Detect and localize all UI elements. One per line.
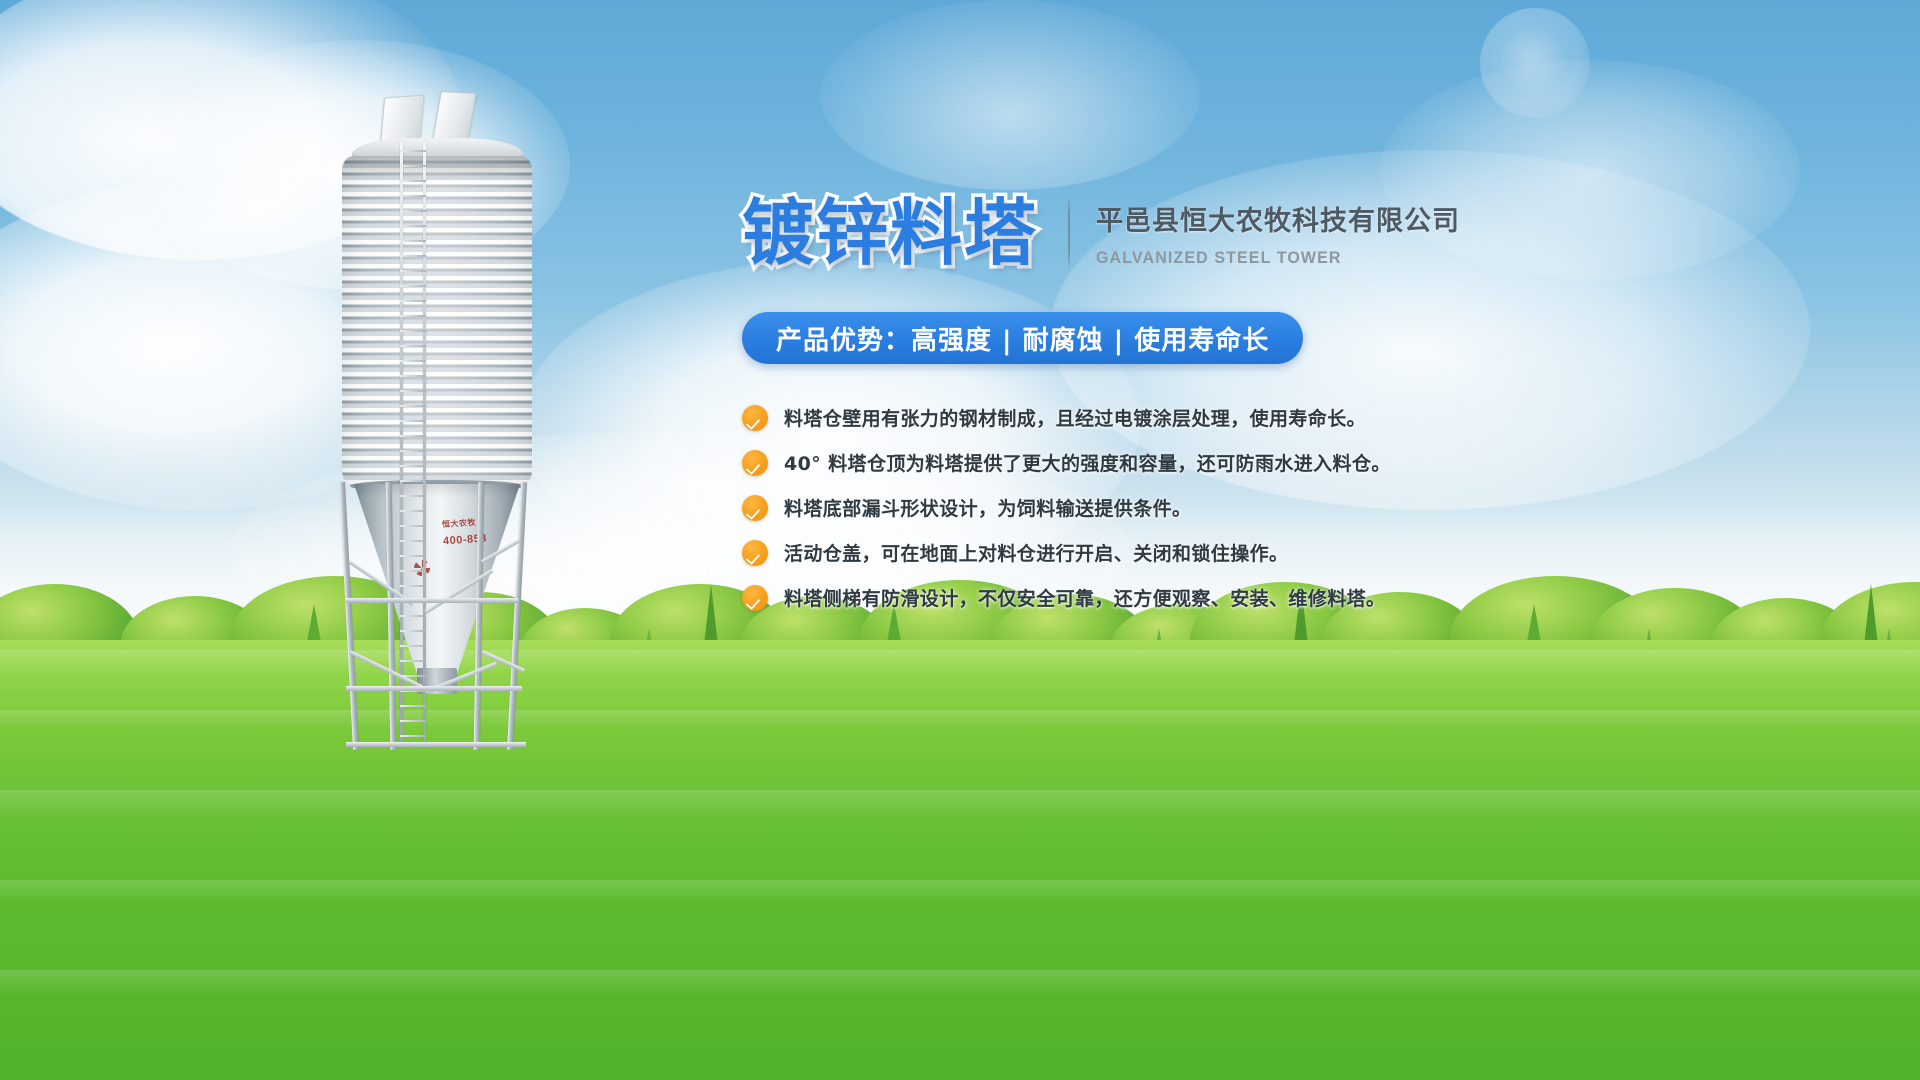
ladder-rung — [400, 720, 426, 722]
feature-list-item-label: 40° 料塔仓顶为料塔提供了更大的强度和容量，还可防雨水进入料仓。 — [784, 449, 1391, 476]
cloud — [820, 0, 1200, 190]
ladder-rung — [400, 705, 426, 707]
ladder-rung — [400, 555, 426, 557]
ladder-rung — [400, 405, 426, 407]
ladder-rung — [400, 585, 426, 587]
ladder-rung — [400, 660, 426, 662]
ladder-rung — [400, 150, 426, 152]
leg-crossbar — [346, 742, 526, 747]
ladder-rail — [423, 142, 426, 748]
feature-list: 料塔仓壁用有张力的钢材制成，且经过电镀涂层处理，使用寿命长。40° 料塔仓顶为料… — [742, 404, 1822, 611]
silo-body-shadow — [342, 156, 532, 182]
silo-corrugated-body — [342, 156, 532, 486]
check-circle-icon — [742, 405, 768, 431]
ladder-rung — [400, 525, 426, 527]
product-photo-feed-silo: 恒大农牧 400-858 — [300, 90, 600, 750]
feature-list-item: 料塔底部漏斗形状设计，为饲料输送提供条件。 — [742, 494, 1822, 521]
ladder-rung — [400, 630, 426, 632]
grass-band — [0, 970, 1920, 996]
ladder-rung — [400, 285, 426, 287]
ladder-rung — [400, 210, 426, 212]
ladder-rung — [400, 330, 426, 332]
brand-block: 平邑县恒大农牧科技有限公司 GALVANIZED STEEL TOWER — [1096, 199, 1460, 268]
ladder-rung — [400, 165, 426, 167]
feature-list-item: 40° 料塔仓顶为料塔提供了更大的强度和容量，还可防雨水进入料仓。 — [742, 449, 1822, 476]
ladder-rung — [400, 420, 426, 422]
title-divider — [1068, 196, 1070, 270]
check-circle-icon — [742, 540, 768, 566]
check-circle-icon — [742, 495, 768, 521]
ladder-rung — [400, 495, 426, 497]
silo-ladder — [400, 142, 426, 748]
feature-list-item: 料塔仓壁用有张力的钢材制成，且经过电镀涂层处理，使用寿命长。 — [742, 404, 1822, 431]
feature-list-item-label: 料塔侧梯有防滑设计，不仅安全可靠，还方便观察、安装、维修料塔。 — [784, 584, 1385, 611]
product-advantages-badge: 产品优势：高强度 | 耐腐蚀 | 使用寿命长 — [742, 312, 1303, 364]
feature-list-item-label: 料塔仓壁用有张力的钢材制成，且经过电镀涂层处理，使用寿命长。 — [784, 404, 1366, 431]
support-leg — [507, 482, 527, 750]
ladder-rung — [400, 540, 426, 542]
support-leg — [339, 482, 359, 750]
ladder-rung — [400, 255, 426, 257]
feature-list-item: 活动仓盖，可在地面上对料仓进行开启、关闭和锁住操作。 — [742, 539, 1822, 566]
feature-list-item: 料塔侧梯有防滑设计，不仅安全可靠，还方便观察、安装、维修料塔。 — [742, 584, 1822, 611]
ladder-rung — [400, 435, 426, 437]
grass-band — [0, 790, 1920, 820]
grass-band — [0, 880, 1920, 902]
ladder-rung — [400, 300, 426, 302]
ladder-rung — [400, 375, 426, 377]
hero-text-panel: 镀锌料塔 平邑县恒大农牧科技有限公司 GALVANIZED STEEL TOWE… — [742, 196, 1822, 629]
leg-crossbar — [346, 598, 518, 603]
ladder-rung — [400, 450, 426, 452]
company-name: 平邑县恒大农牧科技有限公司 — [1096, 199, 1460, 238]
ladder-rail — [400, 142, 403, 748]
leg-crossbar — [346, 686, 522, 691]
ladder-rung — [400, 195, 426, 197]
ladder-rung — [400, 270, 426, 272]
ladder-rung — [400, 360, 426, 362]
grass-field — [0, 640, 1920, 1080]
ladder-rung — [400, 390, 426, 392]
hero-banner: 恒大农牧 400-858 镀锌料塔 平邑县恒大农牧科技有限公司 GALVANIZ… — [0, 0, 1920, 1080]
page-title: 镀锌料塔 — [742, 197, 1038, 269]
ladder-rung — [400, 510, 426, 512]
grass-band — [0, 650, 1920, 676]
ladder-rung — [400, 480, 426, 482]
check-circle-icon — [742, 585, 768, 611]
ladder-rung — [400, 615, 426, 617]
ladder-rung — [400, 315, 426, 317]
ladder-rung — [400, 645, 426, 647]
feature-list-item-label: 料塔底部漏斗形状设计，为饲料输送提供条件。 — [784, 494, 1191, 521]
title-row: 镀锌料塔 平邑县恒大农牧科技有限公司 GALVANIZED STEEL TOWE… — [742, 196, 1822, 270]
silo-brand-marking: 恒大农牧 — [442, 517, 477, 530]
company-name-en: GALVANIZED STEEL TOWER — [1096, 248, 1438, 268]
ladder-rung — [400, 225, 426, 227]
grass-band — [0, 710, 1920, 728]
ladder-rung — [400, 180, 426, 182]
ladder-rung — [400, 345, 426, 347]
ladder-rung — [400, 735, 426, 737]
ladder-rung — [400, 240, 426, 242]
ladder-rung — [400, 570, 426, 572]
check-circle-icon — [742, 450, 768, 476]
ladder-rung — [400, 465, 426, 467]
product-advantages-label: 产品优势：高强度 | 耐腐蚀 | 使用寿命长 — [776, 320, 1269, 357]
sun-flare-icon — [1500, 28, 1566, 94]
feature-list-item-label: 活动仓盖，可在地面上对料仓进行开启、关闭和锁住操作。 — [784, 539, 1288, 566]
